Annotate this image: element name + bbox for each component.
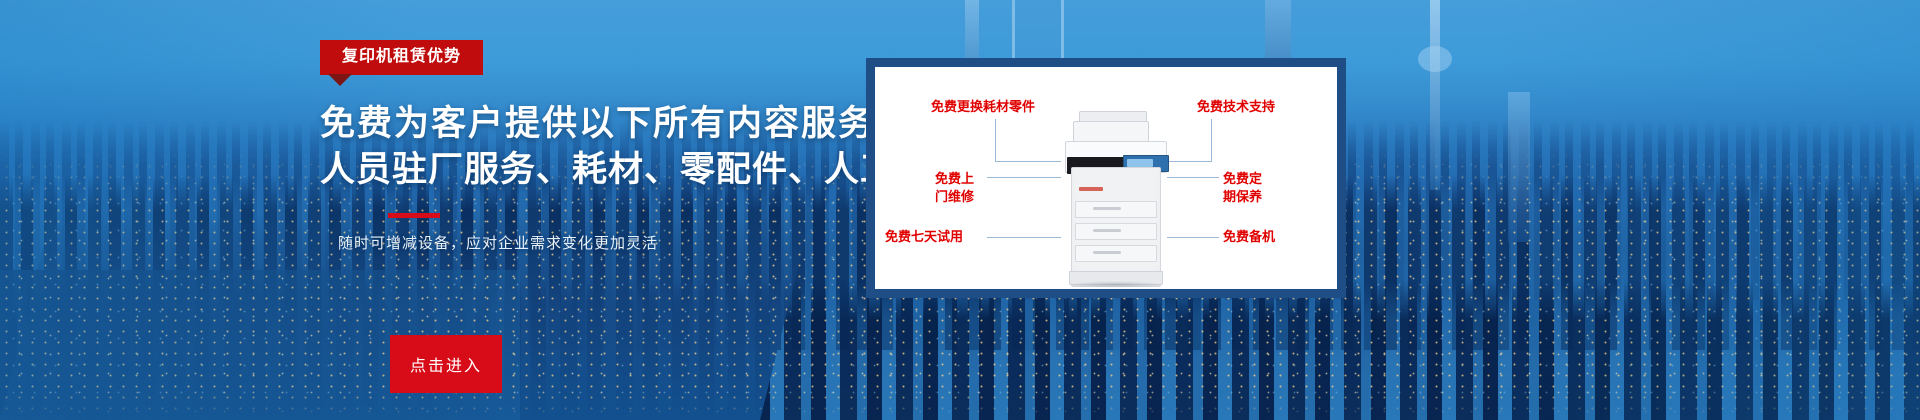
label-trial: 免费七天试用	[885, 229, 963, 247]
promo-banner: 复印机租赁优势 免费为客户提供以下所有内容服务： 人员驻厂服务、耗材、零配件、人…	[0, 0, 1920, 420]
advantage-badge: 复印机租赁优势	[320, 40, 483, 75]
copier-brand-logo	[1079, 187, 1103, 191]
copier-tray-handle	[1093, 229, 1121, 232]
copy-block: 复印机租赁优势 免费为客户提供以下所有内容服务： 人员驻厂服务、耗材、零配件、人…	[320, 40, 860, 253]
red-divider	[388, 213, 440, 218]
leader-tech-support-v	[1211, 119, 1212, 161]
subtitle: 随时可增减设备，应对企业需求变化更加灵活	[338, 232, 860, 253]
leader-backup	[1167, 237, 1219, 238]
service-diagram-panel: 免费更换耗材零件 免费技术支持 免费上 门维修 免费定 期保养 免费七天试用 免…	[866, 58, 1346, 298]
leader-tech-support-h	[1167, 161, 1212, 162]
label-onsite-repair-line2: 门维修	[935, 190, 974, 205]
leader-consumables-h	[995, 161, 1061, 162]
label-tech-support: 免费技术支持	[1197, 99, 1275, 117]
leader-onsite-repair	[987, 177, 1061, 178]
advantage-badge-label: 复印机租赁优势	[342, 48, 461, 65]
label-maintenance-line1: 免费定	[1223, 172, 1262, 187]
label-onsite-repair-line1: 免费上	[935, 172, 974, 187]
copier-tray-handle	[1093, 251, 1121, 254]
label-maintenance-line2: 期保养	[1223, 190, 1262, 205]
label-backup: 免费备机	[1223, 229, 1275, 247]
copier-tray-handle	[1093, 207, 1121, 210]
copier-shadow	[1065, 281, 1165, 288]
badge-tail-triangle	[328, 74, 352, 86]
headline-line-1: 免费为客户提供以下所有内容服务：	[320, 101, 860, 147]
label-maintenance: 免费定 期保养	[1223, 171, 1262, 206]
label-onsite-repair: 免费上 门维修	[935, 171, 974, 206]
tower-sphere	[1418, 46, 1452, 72]
leader-maintenance	[1167, 177, 1219, 178]
copier-illustration	[1063, 105, 1167, 285]
label-consumables: 免费更换耗材零件	[931, 99, 1035, 117]
enter-button[interactable]: 点击进入	[390, 335, 502, 393]
headline: 免费为客户提供以下所有内容服务： 人员驻厂服务、耗材、零配件、人工费	[320, 101, 860, 193]
headline-line-2: 人员驻厂服务、耗材、零配件、人工费	[320, 147, 860, 193]
leader-consumables-v	[995, 119, 996, 161]
diagram-canvas: 免费更换耗材零件 免费技术支持 免费上 门维修 免费定 期保养 免费七天试用 免…	[875, 67, 1337, 289]
leader-trial	[987, 237, 1061, 238]
